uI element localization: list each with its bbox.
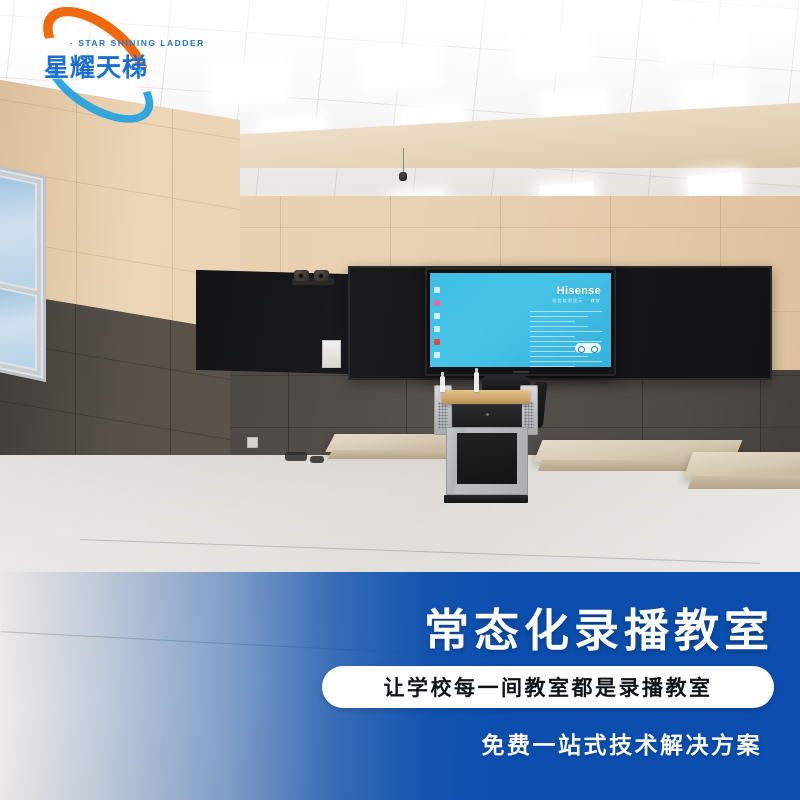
- water-bottle: [440, 376, 445, 392]
- banner-subtitle-text: 让学校每一间教室都是录播教室: [384, 672, 713, 702]
- hanging-mic-icon: [399, 172, 407, 181]
- brand-logo[interactable]: · STAR SHINING LADDER 星耀天梯 ✦: [18, 16, 178, 78]
- display-brand-label: Hisense: [557, 285, 601, 297]
- lectern-drawer[interactable]: [452, 404, 522, 428]
- ceiling-light-panel: [687, 172, 743, 199]
- lectern-cabinet: [446, 427, 528, 495]
- lectern-cabinet-door[interactable]: [457, 433, 517, 484]
- tracking-camera-icon: [314, 270, 329, 281]
- lectern-base: [444, 495, 528, 503]
- banner-subtitle-pill: 让学校每一间教室都是录播教室: [322, 666, 774, 708]
- display-text-lines: [530, 311, 602, 367]
- stage-platform-step: [683, 452, 800, 478]
- stage-step-face: [688, 476, 800, 489]
- lectern-worktop: [442, 390, 530, 404]
- logo-star-icon: ✦: [136, 66, 144, 77]
- taskbar-icon: [434, 326, 440, 332]
- banner-tagline: 免费一站式技术解决方案: [0, 726, 762, 760]
- display-toggle-button[interactable]: [575, 343, 601, 353]
- display-brand-sublabel: 海信商用显示 · 教育: [552, 298, 601, 304]
- taskbar-icon: [434, 300, 440, 306]
- interactive-display[interactable]: Hisense 海信商用显示 · 教育: [425, 268, 616, 376]
- taskbar-icon: [434, 313, 440, 319]
- multimedia-lectern: [434, 381, 538, 503]
- logo-english-text: · STAR SHINING LADDER: [70, 38, 205, 48]
- wall-socket: [247, 437, 258, 448]
- logo-chinese-text: 星耀天梯: [44, 48, 148, 84]
- poster-canvas: Hisense 海信商用显示 · 教育: [0, 0, 800, 800]
- window-pane: [0, 286, 37, 371]
- taskbar-icon: [434, 352, 440, 358]
- taskbar-icon: [434, 339, 440, 345]
- banner-title: 常态化录播教室: [0, 594, 774, 659]
- display-taskbar-icons: [434, 287, 442, 365]
- hanging-mic-wire: [403, 148, 404, 174]
- wall-control-box: [322, 340, 341, 368]
- water-bottle: [474, 372, 479, 392]
- window: [0, 163, 46, 382]
- window-pane: [0, 174, 37, 291]
- display-screen: Hisense 海信商用显示 · 教育: [430, 273, 611, 367]
- floor-object: [285, 452, 307, 461]
- taskbar-icon: [434, 287, 440, 293]
- tracking-camera-icon: [294, 270, 309, 281]
- floor-object: [310, 456, 324, 463]
- display-bezel-bottom: [427, 367, 614, 374]
- stage-step-face: [328, 450, 451, 459]
